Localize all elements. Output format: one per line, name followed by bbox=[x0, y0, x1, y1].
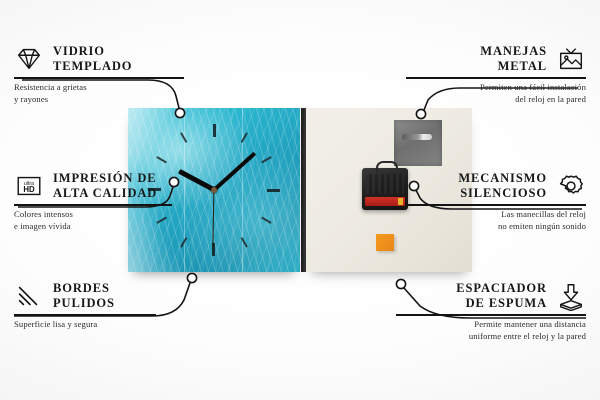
clock-center-cap bbox=[211, 187, 217, 193]
feature-subtitle: Permiten una fácil instalación del reloj… bbox=[406, 82, 586, 105]
mechanism-loop bbox=[376, 161, 398, 172]
clock-minute-hand bbox=[213, 152, 257, 192]
quartz-mechanism bbox=[362, 168, 408, 210]
ultra-hd-icon: ultra HD bbox=[14, 171, 44, 201]
feature-espaciador-espuma: ESPACIADOR DE ESPUMA Permite mantener un… bbox=[396, 281, 586, 342]
metal-hanger bbox=[394, 120, 442, 166]
feature-title: ESPACIADOR DE ESPUMA bbox=[456, 281, 547, 310]
clock-hour-hand bbox=[178, 169, 216, 192]
feature-subtitle: Permite mantener una distancia uniforme … bbox=[396, 319, 586, 342]
infographic-canvas: VIDRIO TEMPLADO Resistencia a grietas y … bbox=[0, 0, 600, 400]
mechanism-body bbox=[366, 174, 404, 194]
feature-subtitle: Resistencia a grietas y rayones bbox=[14, 82, 184, 105]
feature-mecanismo-silencioso: MECANISMO SILENCIOSO Las manecillas del … bbox=[406, 171, 586, 232]
diamond-icon bbox=[14, 44, 44, 74]
feature-rule bbox=[14, 314, 156, 316]
glass-seam-left bbox=[184, 108, 185, 272]
feature-title: MANEJAS METAL bbox=[480, 44, 547, 73]
svg-text:HD: HD bbox=[23, 185, 35, 194]
feature-bordes-pulidos: BORDES PULIDOS Superficie lisa y segura bbox=[14, 281, 156, 331]
feature-title: IMPRESIÓN DE ALTA CALIDAD bbox=[53, 171, 157, 200]
feature-rule bbox=[406, 77, 586, 79]
feature-impresion-alta-calidad: ultra HD IMPRESIÓN DE ALTA CALIDAD Color… bbox=[14, 171, 172, 232]
feature-rule bbox=[14, 77, 184, 79]
battery bbox=[365, 197, 405, 206]
wall-mount-icon bbox=[556, 44, 586, 74]
hanger-slot bbox=[402, 134, 432, 140]
clock-tick bbox=[214, 156, 272, 191]
clock-tick bbox=[214, 189, 280, 191]
panel-edge bbox=[301, 108, 306, 272]
glass-seam-right bbox=[242, 108, 243, 272]
feature-rule bbox=[396, 314, 586, 316]
polished-edges-icon bbox=[14, 281, 44, 311]
clock-tick bbox=[213, 190, 215, 256]
feature-title: MECANISMO SILENCIOSO bbox=[458, 171, 547, 200]
feature-manejas-metal: MANEJAS METAL Permiten una fácil instala… bbox=[406, 44, 586, 105]
clock-tick bbox=[213, 190, 248, 248]
clock-second-hand bbox=[212, 190, 214, 248]
feature-rule bbox=[406, 204, 586, 206]
gear-icon bbox=[556, 171, 586, 201]
clock-tick bbox=[213, 124, 215, 190]
clock-tick bbox=[214, 189, 272, 224]
feature-rule bbox=[14, 204, 172, 206]
feature-subtitle: Las manecillas del reloj no emiten ningú… bbox=[406, 209, 586, 232]
feature-vidrio-templado: VIDRIO TEMPLADO Resistencia a grietas y … bbox=[14, 44, 184, 105]
foam-spacer bbox=[376, 234, 394, 251]
clock-tick bbox=[180, 132, 215, 190]
feature-title: VIDRIO TEMPLADO bbox=[53, 44, 132, 73]
clock-tick bbox=[213, 132, 248, 190]
feature-title: BORDES PULIDOS bbox=[53, 281, 115, 310]
clock-tick bbox=[180, 190, 215, 248]
feature-subtitle: Colores intensos e imagen vívida bbox=[14, 209, 172, 232]
foam-spacer-icon bbox=[556, 281, 586, 311]
feature-subtitle: Superficie lisa y segura bbox=[14, 319, 156, 330]
